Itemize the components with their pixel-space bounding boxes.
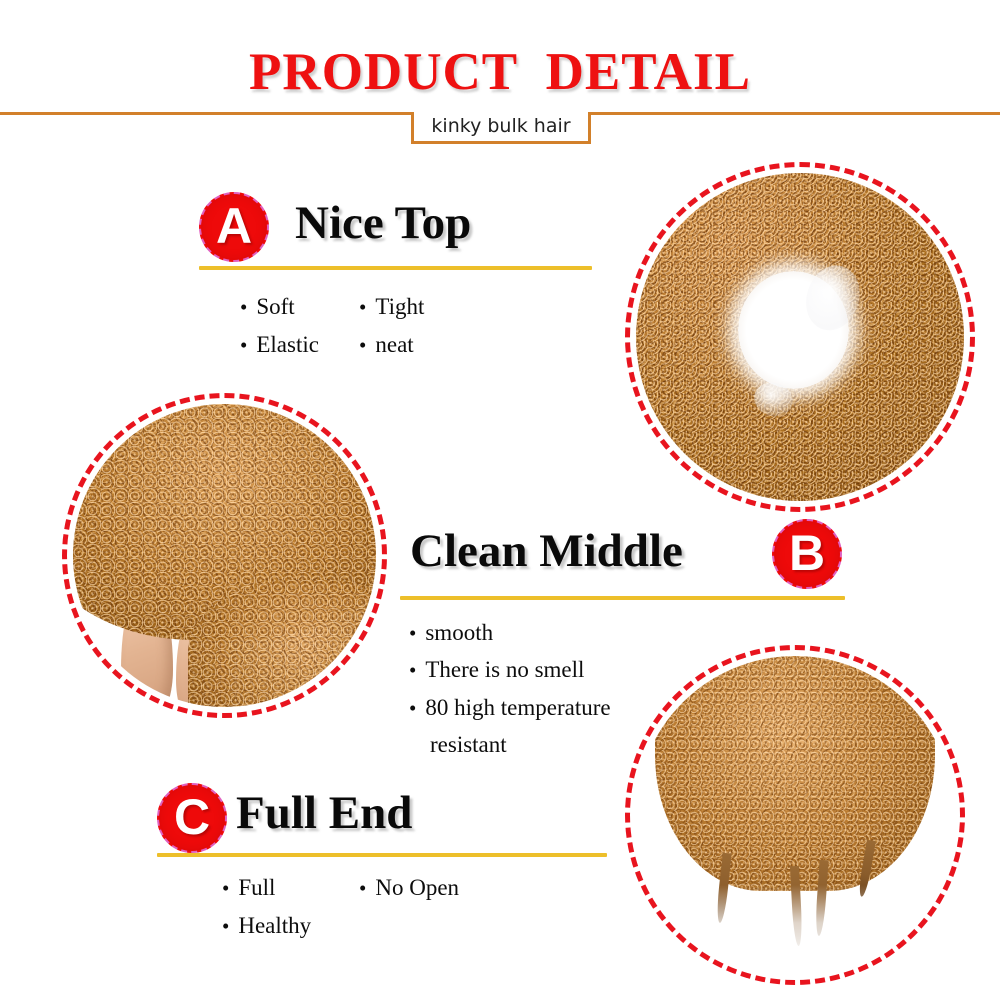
bullet-c-1: Full (222, 876, 275, 899)
section-heading-full-end: Full End (236, 790, 412, 837)
bullet-b-3: 80 high temperature (409, 696, 611, 719)
bullet-b-1: smooth (409, 621, 493, 644)
product-detail-page: PRODUCT DETAIL kinky bulk hair A Nice To… (0, 0, 1000, 1000)
hair-texture-hand-photo-inner (73, 404, 376, 707)
bullet-a-3: Tight (359, 295, 424, 318)
bullet-a-2: Elastic (240, 333, 319, 356)
bullet-a-4: neat (359, 333, 414, 356)
section-badge-a: A (199, 192, 269, 262)
subtitle-text: kinky bulk hair (431, 117, 570, 136)
section-heading-nice-top: Nice Top (295, 200, 471, 247)
section-rule-b (400, 596, 845, 600)
hair-ring-top-photo-inner (636, 173, 964, 501)
hair-ring-top-photo (625, 162, 975, 512)
section-rule-c (157, 853, 607, 857)
hair-bundle (655, 656, 935, 891)
page-title: PRODUCT DETAIL (0, 42, 1000, 102)
bullet-b-3-continued: resistant (430, 733, 507, 756)
hair-ends-photo-inner (636, 656, 954, 974)
bullet-c-2: Healthy (222, 914, 311, 937)
section-badge-a-letter: A (216, 201, 252, 254)
bullet-b-2: There is no smell (409, 658, 584, 681)
subtitle-box: kinky bulk hair (411, 112, 591, 144)
section-badge-c: C (157, 783, 227, 853)
bullet-a-1: Soft (240, 295, 295, 318)
hair-texture (655, 656, 935, 891)
section-badge-b-letter: B (789, 528, 825, 581)
section-badge-c-letter: C (174, 792, 210, 845)
section-heading-clean-middle: Clean Middle (410, 528, 683, 575)
bullet-c-3: No Open (359, 876, 459, 899)
section-badge-b: B (772, 519, 842, 589)
section-rule-a (199, 266, 592, 270)
hair-texture-hand-photo (62, 393, 387, 718)
photo-white-floor (636, 885, 954, 974)
hair-ends-photo (625, 645, 965, 985)
